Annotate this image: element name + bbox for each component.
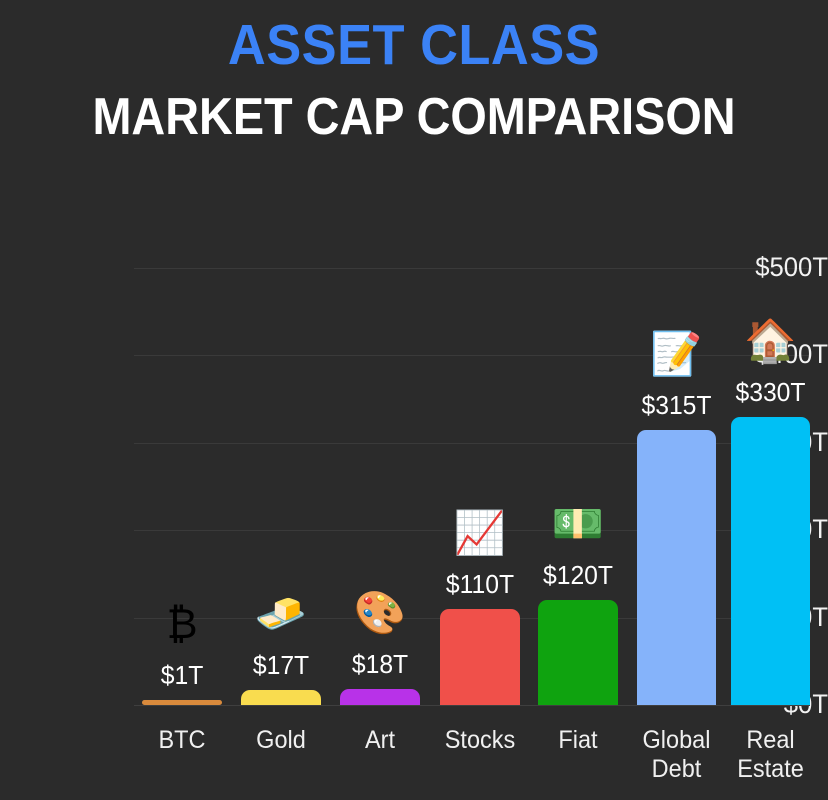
bar-real-estate[interactable] (731, 417, 810, 705)
bar-btc[interactable] (142, 700, 222, 705)
bar-value-label: $17T (224, 652, 338, 678)
bar-value-label: $1T (125, 662, 239, 688)
y-axis-tick: $500T (722, 254, 828, 281)
house-icon: 🏠 (711, 318, 828, 364)
bar-stocks[interactable] (440, 609, 520, 705)
x-axis-tick-line: Real (713, 726, 828, 755)
artist-palette-icon: 🎨 (320, 590, 440, 636)
bar-fiat[interactable] (538, 600, 618, 705)
x-axis-baseline (134, 705, 810, 706)
plot-area: $0T$100T$200T$300T$400T$500T $1T₿$17T🧈$1… (0, 0, 828, 800)
gridline (134, 268, 810, 269)
bar-global-debt[interactable] (637, 430, 716, 705)
x-axis-tick-real-estate: RealEstate (713, 726, 828, 784)
bar-value-label: $330T (714, 379, 827, 405)
x-axis-tick-line: Estate (713, 755, 828, 784)
bar-art[interactable] (340, 689, 420, 705)
bar-value-label: $110T (423, 571, 537, 597)
bar-gold[interactable] (241, 690, 321, 705)
banknotes-icon: 💵 (518, 501, 638, 547)
bar-value-label: $18T (323, 651, 437, 677)
bar-value-label: $120T (521, 562, 635, 588)
chart-page: ASSET CLASS MARKET CAP COMPARISON $0T$10… (0, 0, 828, 800)
